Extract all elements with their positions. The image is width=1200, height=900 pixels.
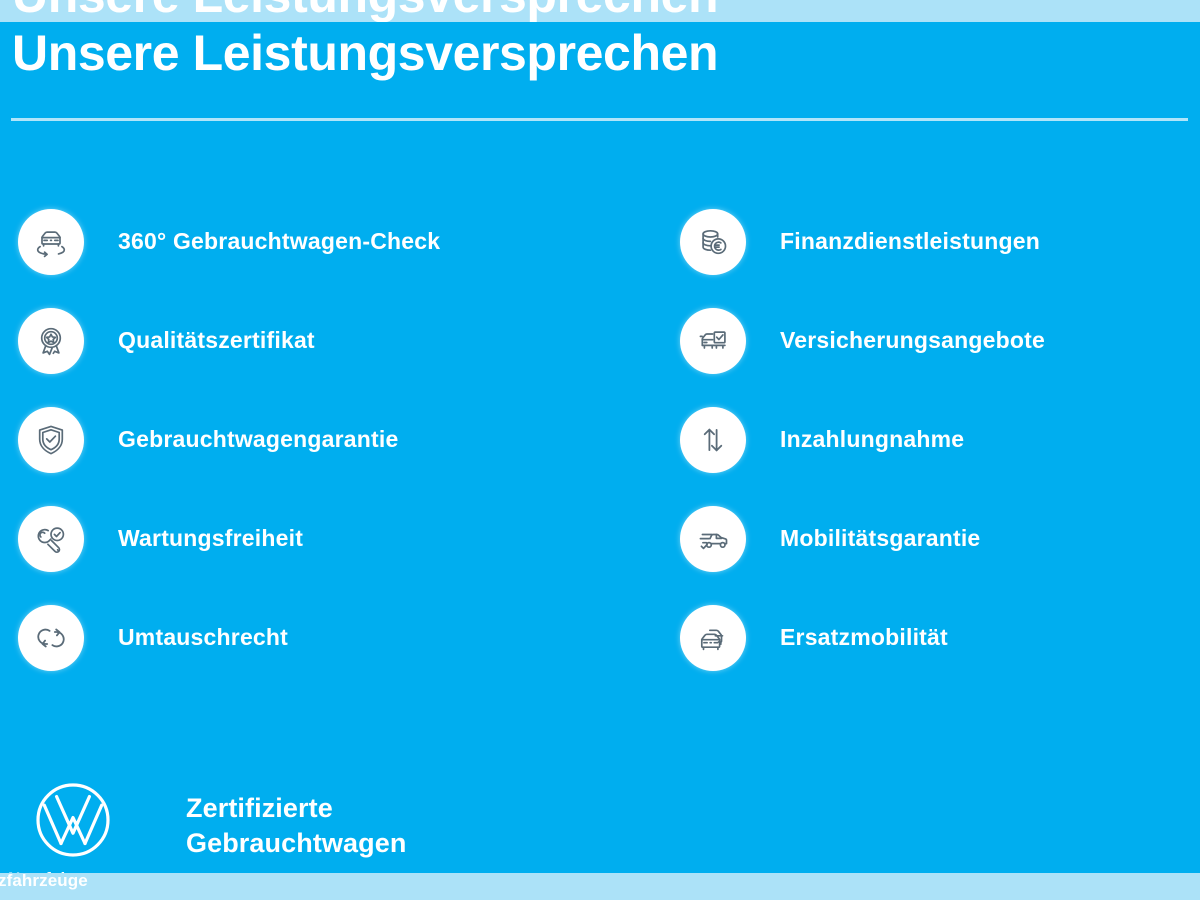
volkswagen-brand-block: Nutzfahrzeuge	[18, 777, 148, 868]
ghost-title-text: Unsere Leistungsversprechen	[12, 0, 718, 20]
benefit-item-mobilitaetsgarantie[interactable]: Mobilitätsgarantie	[680, 489, 1045, 588]
wrench-check-icon	[18, 506, 84, 572]
car-checkbox-icon	[680, 308, 746, 374]
claim-line-2: Gebrauchtwagen	[186, 826, 406, 861]
benefit-item-360-check[interactable]: 360° Gebrauchtwagen-Check	[18, 192, 440, 291]
benefits-column-right: Finanzdienstleistungen	[680, 192, 1045, 687]
benefit-label: Wartungsfreiheit	[118, 526, 303, 551]
benefit-label: Inzahlungnahme	[780, 427, 964, 452]
shield-check-icon	[18, 407, 84, 473]
coins-euro-icon	[680, 209, 746, 275]
page-title: Unsere Leistungsversprechen	[12, 26, 718, 81]
benefit-label: Umtauschrecht	[118, 625, 288, 650]
bottom-letterbox-band: zfahrzeuge	[0, 873, 1200, 900]
ghost-footer-text: zfahrzeuge	[0, 873, 88, 892]
benefit-item-umtauschrecht[interactable]: Umtauschrecht	[18, 588, 440, 687]
claim-line-1: Zertifizierte	[186, 791, 406, 826]
benefit-label: Mobilitätsgarantie	[780, 526, 980, 551]
poster-body: Unsere Leistungsversprechen	[0, 22, 1200, 873]
two-cars-icon	[680, 605, 746, 671]
benefit-item-versicherungsangebote[interactable]: Versicherungsangebote	[680, 291, 1045, 390]
benefit-label: Ersatzmobilität	[780, 625, 948, 650]
benefit-label: Finanzdienstleistungen	[780, 229, 1040, 254]
title-divider	[11, 118, 1188, 121]
benefit-label: Gebrauchtwagengarantie	[118, 427, 398, 452]
benefit-label: Qualitätszertifikat	[118, 328, 315, 353]
benefit-item-ersatzmobilitaet[interactable]: Ersatzmobilität	[680, 588, 1045, 687]
brand-lockup: Nutzfahrzeuge Zertifizierte Gebrauchtwag…	[18, 777, 406, 868]
benefit-label: Versicherungsangebote	[780, 328, 1045, 353]
poster-stage: Unsere Leistungsversprechen	[0, 0, 1200, 900]
benefit-item-gebrauchtwagengarantie[interactable]: Gebrauchtwagengarantie	[18, 390, 440, 489]
up-down-arrows-icon	[680, 407, 746, 473]
top-letterbox-band: Unsere Leistungsversprechen	[0, 0, 1200, 22]
exchange-arrows-icon	[18, 605, 84, 671]
certified-used-cars-claim: Zertifizierte Gebrauchtwagen	[186, 791, 406, 860]
benefit-item-wartungsfreiheit[interactable]: Wartungsfreiheit	[18, 489, 440, 588]
volkswagen-logo	[30, 777, 148, 868]
moving-car-icon	[680, 506, 746, 572]
benefit-item-finanzdienstleistungen[interactable]: Finanzdienstleistungen	[680, 192, 1045, 291]
benefit-label: 360° Gebrauchtwagen-Check	[118, 229, 440, 254]
car-360-check-icon	[18, 209, 84, 275]
award-rosette-icon	[18, 308, 84, 374]
benefit-item-qualitaetszertifikat[interactable]: Qualitätszertifikat	[18, 291, 440, 390]
benefit-item-inzahlungnahme[interactable]: Inzahlungnahme	[680, 390, 1045, 489]
benefits-column-left: 360° Gebrauchtwagen-Check Qualitätszerti…	[18, 192, 440, 687]
